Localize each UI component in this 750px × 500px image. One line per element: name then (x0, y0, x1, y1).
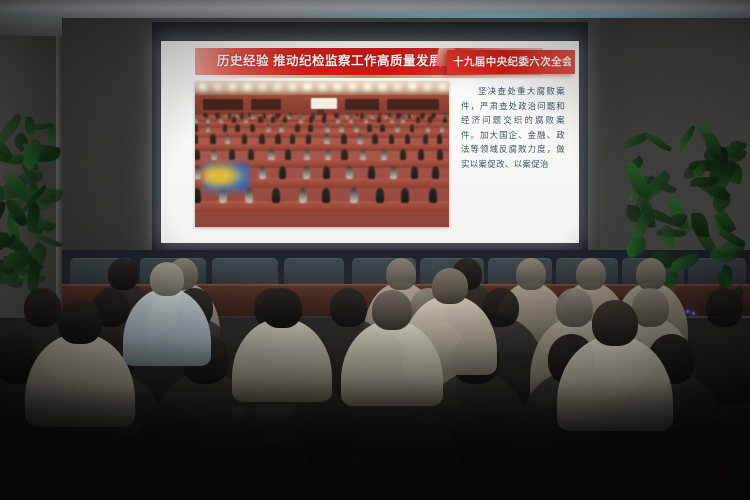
attendee-head (108, 258, 138, 290)
slide-banner-tag-label: 十九届中央纪委六次全会 (453, 54, 571, 70)
plant-leaf (675, 125, 698, 152)
attendee-head (592, 300, 638, 346)
soffit (0, 18, 62, 36)
slide-video-panel (195, 81, 449, 227)
attendee-head (58, 300, 102, 344)
meeting-room-photo: 坚决查处重大腐败案件，严肃查处政治问题和经济问题交织的腐败案件。加大国企、金融、… (0, 0, 750, 500)
slide-body-text: 坚决查处重大腐败案件，严肃查处政治问题和经济问题交织的腐败案件。加大国企、金融、… (461, 85, 565, 173)
attendee-head (386, 258, 416, 290)
projection-screen: 坚决查处重大腐败案件，严肃查处政治问题和经济问题交织的腐败案件。加大国企、金融、… (161, 41, 579, 243)
indicator-led (692, 312, 695, 315)
attendee-head (262, 288, 302, 328)
attendee-head (706, 288, 743, 327)
plant-leaf (645, 131, 672, 154)
indicator-led (686, 310, 689, 313)
attendee-head (516, 258, 546, 290)
attendee-head (636, 258, 666, 290)
attendee-head (432, 268, 468, 304)
attendee-head (452, 404, 511, 466)
attendee-head (372, 290, 412, 330)
plant-leaf (714, 209, 737, 236)
attendee-head (576, 258, 606, 290)
attendee-head (150, 262, 184, 296)
video-softening-overlay (195, 81, 449, 227)
attendee-head (24, 288, 61, 327)
attendee-head (556, 288, 593, 327)
potted-plant-left (0, 118, 64, 288)
attendee-head (140, 404, 199, 466)
attendee-head (330, 288, 367, 327)
attendee-head (300, 404, 359, 466)
